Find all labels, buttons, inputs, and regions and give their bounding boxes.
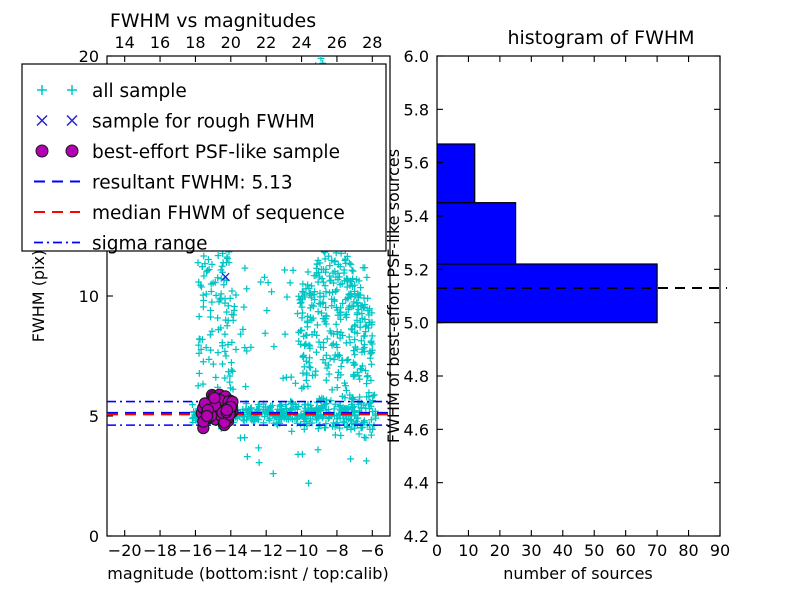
left-xlabel: magnitude (bottom:isnt / top:calib) bbox=[107, 564, 388, 583]
legend-label: all sample bbox=[92, 81, 187, 102]
psf-sample-point bbox=[209, 392, 220, 403]
histogram-bar bbox=[437, 264, 657, 323]
left-bottom-ticklabel: −12 bbox=[249, 541, 283, 560]
right-y-ticklabel: 5.0 bbox=[404, 314, 429, 333]
right-x-ticklabel: 20 bbox=[490, 541, 510, 560]
left-bottom-ticklabel: −10 bbox=[285, 541, 319, 560]
right-x-ticklabel: 60 bbox=[615, 541, 635, 560]
right-x-ticklabel: 50 bbox=[584, 541, 604, 560]
left-top-ticklabel: 28 bbox=[362, 33, 382, 52]
legend-label: sigma range bbox=[92, 234, 208, 255]
right-x-ticklabel: 10 bbox=[458, 541, 478, 560]
left-y-ticklabel: 20 bbox=[79, 47, 99, 66]
right-y-ticklabel: 4.2 bbox=[404, 527, 429, 546]
left-top-ticklabel: 20 bbox=[221, 33, 241, 52]
right-y-ticklabel: 4.4 bbox=[404, 474, 429, 493]
left-panel-title: FWHM vs magnitudes bbox=[110, 10, 316, 32]
psf-sample-point bbox=[221, 404, 232, 415]
left-bottom-ticklabel: −18 bbox=[143, 541, 177, 560]
left-top-ticklabel: 22 bbox=[256, 33, 276, 52]
figure-canvas: FWHM vs magnitudes 1416182022242628 −20−… bbox=[0, 0, 800, 600]
right-x-ticklabel: 70 bbox=[647, 541, 667, 560]
right-y-ticklabel: 5.4 bbox=[404, 207, 429, 226]
legend-dot-icon bbox=[66, 145, 78, 157]
left-bottom-ticklabel: −20 bbox=[108, 541, 142, 560]
right-x-ticklabel: 90 bbox=[710, 541, 730, 560]
legend-label: sample for rough FWHM bbox=[92, 112, 315, 133]
right-y-ticklabel: 5.2 bbox=[404, 260, 429, 279]
left-top-ticklabel: 14 bbox=[115, 33, 135, 52]
right-x-ticklabel: 30 bbox=[521, 541, 541, 560]
right-y-ticklabel: 5.8 bbox=[404, 100, 429, 119]
left-y-ticklabel: 5 bbox=[89, 407, 99, 426]
histogram-bar bbox=[437, 203, 516, 264]
right-ylabel: FWHM of best-effort PSF-like sources bbox=[384, 149, 403, 443]
left-ylabel: FWHM (pix) bbox=[29, 250, 48, 343]
left-top-ticklabel: 26 bbox=[327, 33, 347, 52]
right-x-ticklabel: 80 bbox=[678, 541, 698, 560]
legend-label: median FHWM of sequence bbox=[92, 203, 345, 224]
legend-label: resultant FWHM: 5.13 bbox=[92, 173, 293, 194]
left-top-ticklabel: 16 bbox=[150, 33, 170, 52]
left-top-ticklabel: 24 bbox=[291, 33, 311, 52]
left-top-ticklabel: 18 bbox=[185, 33, 205, 52]
histogram-bar bbox=[437, 144, 475, 203]
right-panel-title: histogram of FWHM bbox=[507, 27, 694, 49]
right-x-ticklabel: 0 bbox=[432, 541, 442, 560]
left-y-ticklabel: 0 bbox=[89, 527, 99, 546]
legend-label: best-effort PSF-like sample bbox=[92, 142, 340, 163]
left-bottom-ticklabel: −14 bbox=[214, 541, 248, 560]
left-bottom-ticklabel: −8 bbox=[325, 541, 349, 560]
legend: all samplesample for rough FWHMbest-effo… bbox=[22, 64, 386, 255]
left-bottom-ticklabel: −16 bbox=[179, 541, 213, 560]
right-x-ticklabel: 40 bbox=[553, 541, 573, 560]
right-y-ticklabel: 4.8 bbox=[404, 367, 429, 386]
left-bottom-ticklabel: −6 bbox=[361, 541, 385, 560]
left-y-ticklabel: 10 bbox=[79, 287, 99, 306]
legend-dot-icon bbox=[36, 145, 48, 157]
right-y-ticklabel: 4.6 bbox=[404, 420, 429, 439]
right-y-ticklabel: 5.6 bbox=[404, 154, 429, 173]
right-y-ticklabel: 6.0 bbox=[404, 47, 429, 66]
right-xlabel: number of sources bbox=[503, 564, 653, 583]
psf-sample-point bbox=[201, 410, 212, 421]
